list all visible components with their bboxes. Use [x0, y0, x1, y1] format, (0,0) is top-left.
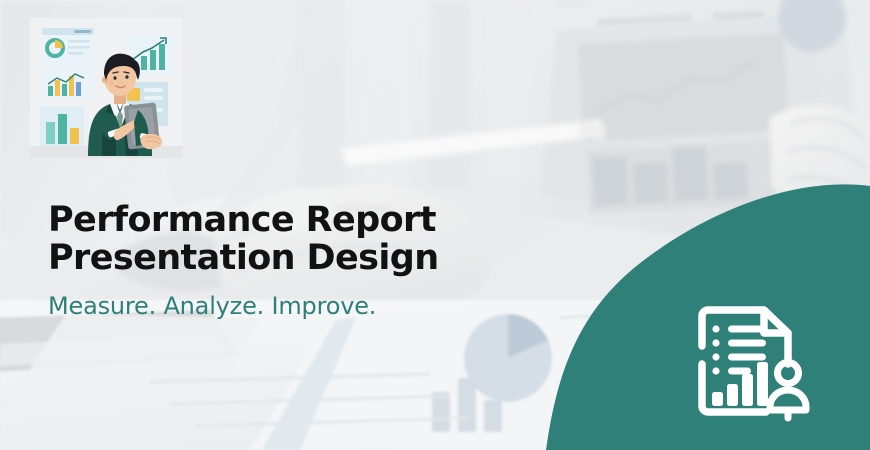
page-subtitle: Measure. Analyze. Improve. [48, 292, 518, 320]
page-title-line-1: Performance Report [48, 202, 518, 240]
businessman-with-tablet-illustration [30, 18, 182, 158]
banner-text-block: Performance Report Presentation Design M… [48, 202, 518, 320]
report-document-with-chart-and-person-icon [688, 302, 818, 424]
page-title-line-2: Presentation Design [48, 240, 518, 278]
performance-report-banner: Performance Report Presentation Design M… [0, 0, 870, 450]
person-glyph [770, 363, 806, 419]
